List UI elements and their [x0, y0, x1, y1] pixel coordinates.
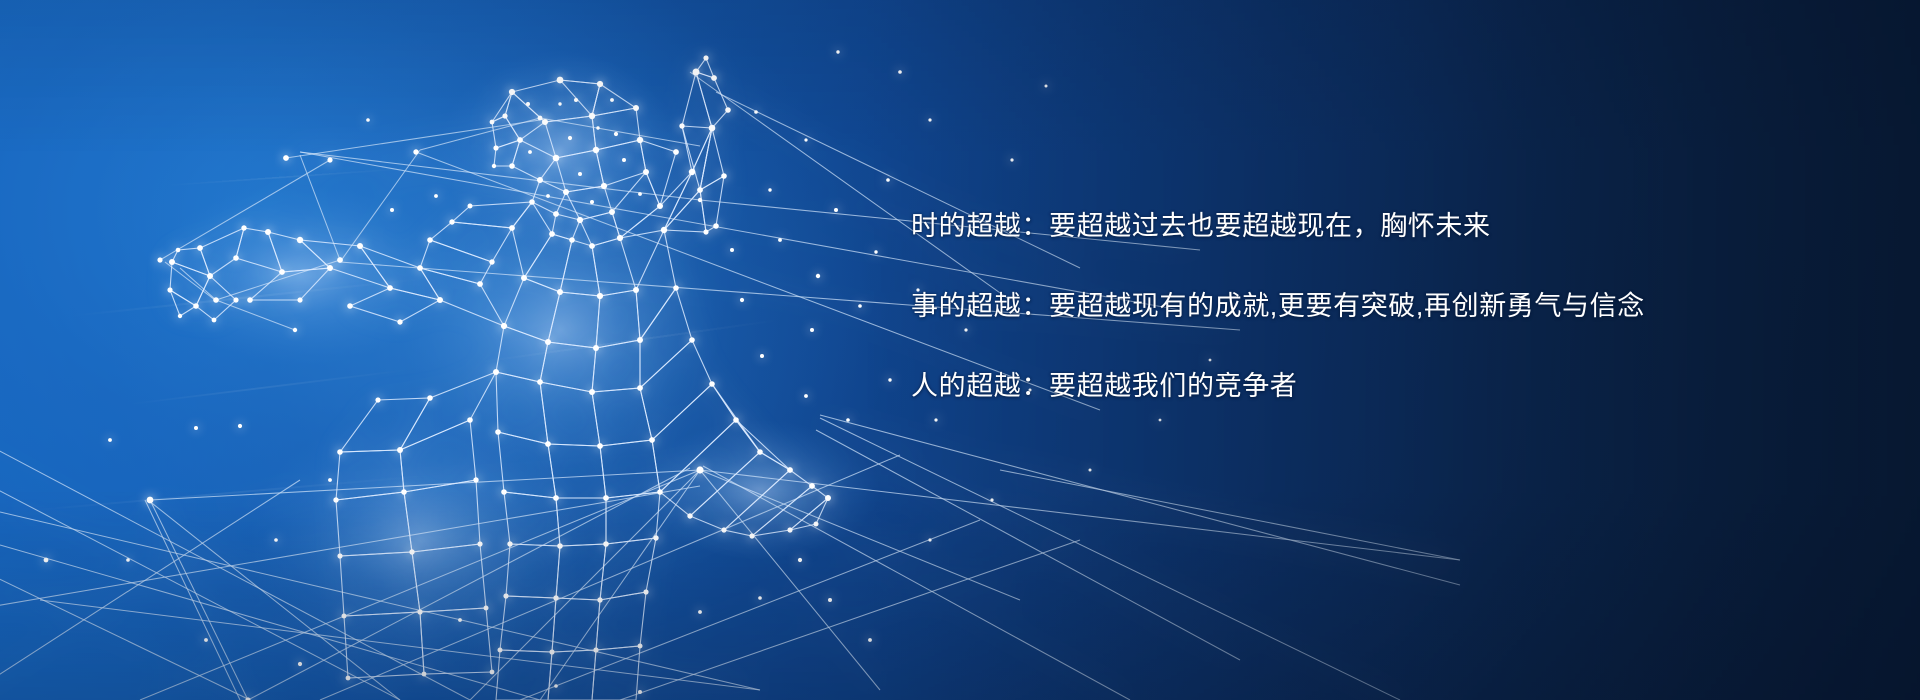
slogan-line-matter: 事的超越：要超越现有的成就,更要有突破,再创新勇气与信念	[911, 266, 1811, 346]
slogan-text-block: 时的超越：要超越过去也要超越现在，胸怀未来 事的超越：要超越现有的成就,更要有突…	[911, 186, 1811, 426]
slogan-line-people: 人的超越：要超越我们的竞争者	[911, 346, 1811, 426]
hero-banner: 时的超越：要超越过去也要超越现在，胸怀未来 事的超越：要超越现有的成就,更要有突…	[0, 0, 1920, 700]
slogan-line-time: 时的超越：要超越过去也要超越现在，胸怀未来	[911, 186, 1811, 266]
